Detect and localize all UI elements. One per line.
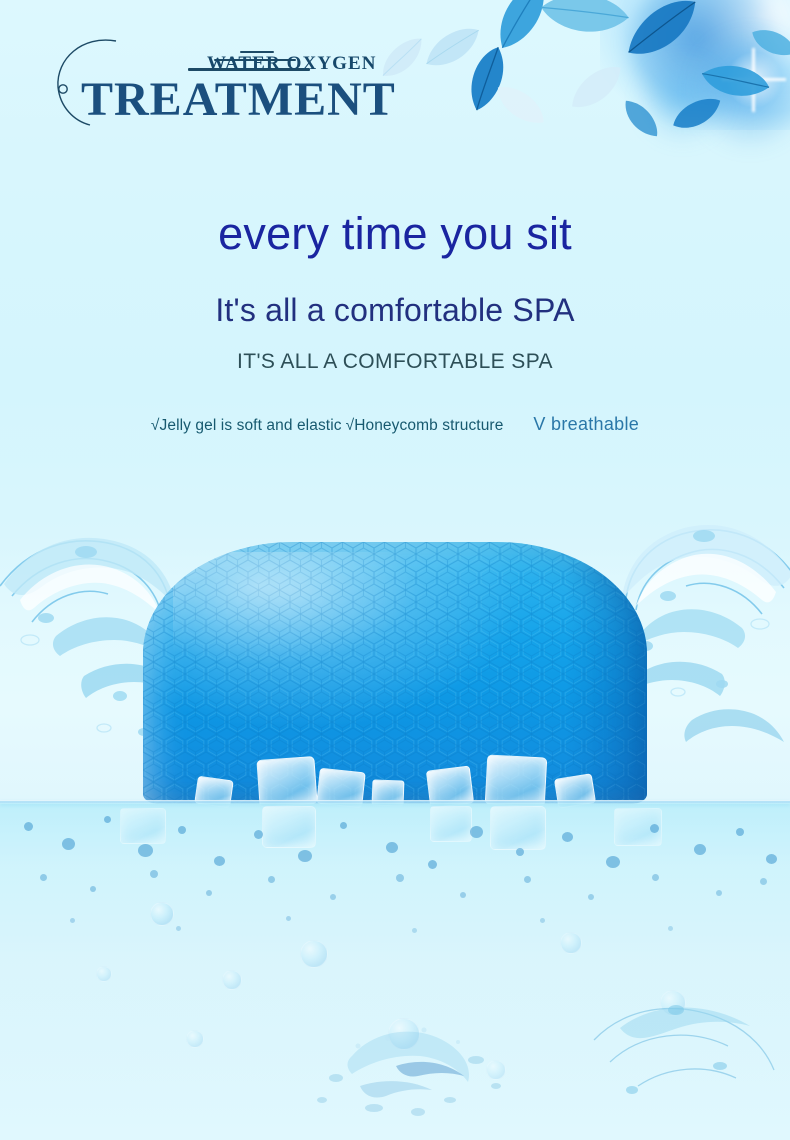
ice-cube-reflection (430, 806, 472, 842)
ice-cube-reflection (120, 808, 166, 844)
leaf-icon (452, 42, 525, 118)
leaf-icon (488, 72, 549, 140)
water-body (0, 803, 790, 1140)
feature-item-breathable: V breathable (533, 414, 639, 435)
ice-cube-reflection (262, 806, 316, 848)
page-subheadline: It's all a comfortable SPA (0, 292, 790, 329)
corner-glow (600, 0, 790, 130)
glow-blob-2 (690, 30, 790, 150)
honeycomb-texture (143, 542, 647, 804)
product-scene (0, 470, 790, 1140)
leaf-icon (562, 61, 633, 116)
page-subheadline-uppercase: IT'S ALL A COMFORTABLE SPA (0, 350, 790, 374)
feature-item-jelly-gel: √Jelly gel is soft and elastic (151, 417, 342, 435)
leaf-icon (480, 0, 568, 59)
brand-logo: WATER OXYGEN TREATMENT (52, 33, 392, 128)
leaf-icon (694, 47, 774, 119)
glow-blob-3 (635, 58, 730, 143)
leaf-icon (744, 15, 790, 73)
ice-cube-reflection (490, 806, 546, 850)
glow-blob-1 (630, 0, 780, 120)
leaf-decoration-group (370, 0, 790, 175)
leaf-icon (533, 0, 633, 59)
honeycomb-gel-cushion (143, 542, 647, 804)
feature-item-honeycomb: √Honeycomb structure (346, 417, 504, 435)
product-marketing-poster: WATER OXYGEN TREATMENT every time you si… (0, 0, 790, 1140)
light-sparkle (722, 48, 786, 112)
logo-wordmark: TREATMENT (81, 72, 396, 127)
page-headline: every time you sit (0, 208, 790, 260)
leaf-icon (617, 0, 710, 66)
feature-list: √Jelly gel is soft and elastic √Honeycom… (0, 414, 790, 435)
leaf-icon (668, 94, 726, 135)
leaf-icon (618, 91, 663, 146)
leaf-icon (419, 24, 488, 74)
